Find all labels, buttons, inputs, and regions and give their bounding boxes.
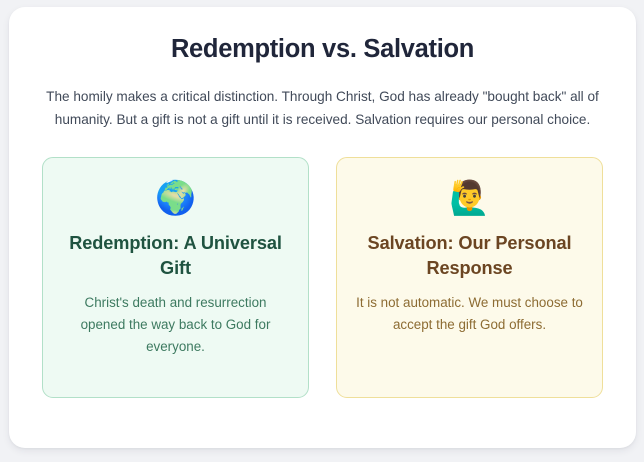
page-background: Redemption vs. Salvation The homily make… <box>0 0 644 462</box>
card-salvation-title: Salvation: Our Personal Response <box>355 231 584 281</box>
content-panel: Redemption vs. Salvation The homily make… <box>9 7 636 448</box>
card-salvation-body: It is not automatic. We must choose to a… <box>355 292 584 336</box>
man-raising-hand-icon: 🙋‍♂️ <box>355 177 584 219</box>
globe-showing-europe-africa-icon: 🌍 <box>61 177 290 219</box>
page-title: Redemption vs. Salvation <box>37 33 608 65</box>
card-redemption-title: Redemption: A Universal Gift <box>61 231 290 281</box>
card-salvation: 🙋‍♂️ Salvation: Our Personal Response It… <box>336 157 603 398</box>
comparison-card-group: 🌍 Redemption: A Universal Gift Christ's … <box>37 157 608 398</box>
card-redemption-body: Christ's death and resurrection opened t… <box>61 292 290 358</box>
panel-inner: Redemption vs. Salvation The homily make… <box>9 7 636 398</box>
intro-paragraph: The homily makes a critical distinction.… <box>45 86 601 131</box>
card-redemption: 🌍 Redemption: A Universal Gift Christ's … <box>42 157 309 398</box>
